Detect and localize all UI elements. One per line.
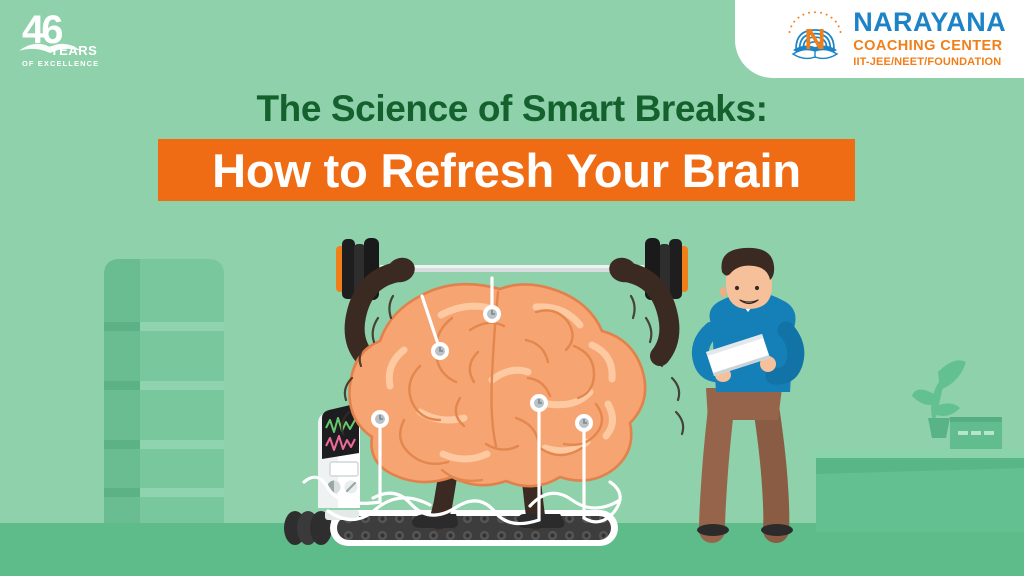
logo-programs: IIT-JEE/NEET/FOUNDATION [853, 57, 1006, 68]
storage-cabinet [950, 417, 1002, 451]
counter-desk [810, 449, 1024, 532]
badge-excellence-label: OF EXCELLENCE [22, 60, 99, 68]
observer-person [697, 248, 796, 536]
narayana-logo[interactable]: N NARAYANA COACHING CENTER IIT-JEE/NEET/… [786, 8, 1006, 68]
poster-canvas: 46 YEARS OF EXCELLENCE [0, 0, 1024, 576]
years-of-excellence-badge: 46 YEARS OF EXCELLENCE [14, 8, 110, 70]
badge-years-label: YEARS [50, 44, 97, 57]
shelf-unit [104, 259, 224, 523]
page-title-line2: How to Refresh Your Brain [212, 147, 801, 194]
illustration-scene [0, 0, 1024, 576]
svg-text:N: N [805, 24, 826, 56]
logo-subtitle: COACHING CENTER [853, 39, 1006, 54]
page-title-line1: The Science of Smart Breaks: [0, 88, 1024, 130]
narayana-emblem-icon: N [786, 9, 844, 67]
title-banner: How to Refresh Your Brain [158, 139, 855, 201]
logo-name: NARAYANA [853, 9, 1006, 36]
